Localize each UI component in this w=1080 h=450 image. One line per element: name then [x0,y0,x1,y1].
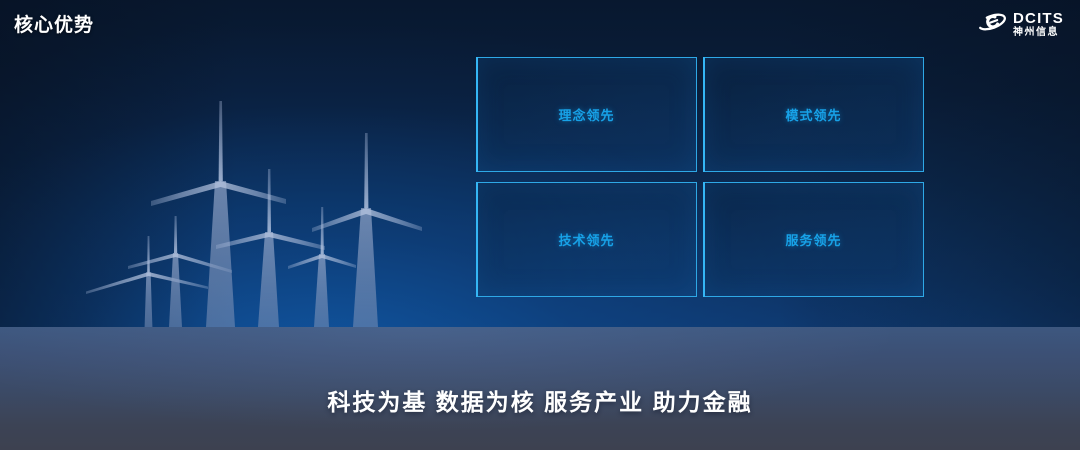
advantage-card-2-label: 模式领先 [785,105,841,124]
dcits-swirl-logo-icon [977,9,1007,40]
advantage-card-3-label: 技术领先 [558,230,614,249]
brand-logo: DCITS 神州信息 [977,9,1064,40]
tagline: 科技为基 数据为核 服务产业 助力金融 [0,383,1080,417]
advantage-card-1-label: 理念领先 [558,105,614,124]
brand-logo-cn: 神州信息 [1013,28,1064,38]
advantage-card-2[interactable]: 模式领先 [703,57,924,172]
page-title: 核心优势 [14,10,94,37]
turbine-a [86,236,208,327]
advantage-card-1[interactable]: 理念领先 [476,57,697,172]
turbine-f [312,133,422,327]
advantage-card-4[interactable]: 服务领先 [703,182,924,297]
slide-root: 核心优势 DCITS 神州信息 理念领先 模式领先 技术领先 [0,0,1080,450]
advantage-card-4-label: 服务领先 [785,230,841,249]
advantage-card-3[interactable]: 技术领先 [476,182,697,297]
advantage-card-grid: 理念领先 模式领先 技术领先 服务领先 [476,57,924,297]
brand-logo-en: DCITS [1013,11,1064,26]
brand-logo-text: DCITS 神州信息 [1013,11,1064,38]
